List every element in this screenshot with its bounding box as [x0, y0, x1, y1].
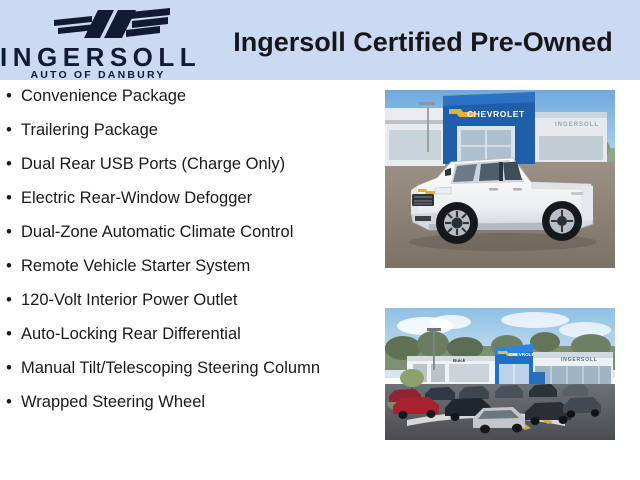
svg-text:CHEVROLET: CHEVROLET — [467, 109, 525, 119]
logo-wordmark: INGERSOLL — [0, 44, 196, 70]
list-item: Dual Rear USB Ports (Charge Only) — [0, 154, 370, 174]
vehicle-photo[interactable]: CHEVROLET INGERSOLL — [385, 90, 615, 268]
feature-label: Trailering Package — [21, 121, 158, 139]
feature-label: Convenience Package — [21, 87, 186, 105]
list-item: Electric Rear-Window Defogger — [0, 188, 370, 208]
feature-label: Remote Vehicle Starter System — [21, 257, 250, 275]
list-item: Convenience Package — [0, 86, 370, 106]
feature-label: 120-Volt Interior Power Outlet — [21, 291, 237, 309]
features-list: Convenience Package Trailering Package D… — [0, 86, 370, 426]
list-item: Remote Vehicle Starter System — [0, 256, 370, 276]
dealership-photo[interactable]: Buick CHEVROLET INGERSOLL — [385, 308, 615, 440]
page-header: INGERSOLL AUTO OF DANBURY Ingersoll Cert… — [0, 0, 640, 80]
list-item: Auto-Locking Rear Differential — [0, 324, 370, 344]
feature-label: Auto-Locking Rear Differential — [21, 325, 241, 343]
list-item: Wrapped Steering Wheel — [0, 392, 370, 412]
dealership-photo-image: Buick CHEVROLET INGERSOLL — [385, 308, 615, 440]
feature-label: Manual Tilt/Telescoping Steering Column — [21, 359, 320, 377]
feature-label: Wrapped Steering Wheel — [21, 393, 205, 411]
ingersoll-winged-emblem-icon — [52, 6, 172, 42]
svg-text:INGERSOLL: INGERSOLL — [561, 357, 598, 363]
list-item: Dual-Zone Automatic Climate Control — [0, 222, 370, 242]
svg-text:INGERSOLL: INGERSOLL — [555, 122, 599, 128]
svg-text:Buick: Buick — [453, 358, 466, 363]
list-item: 120-Volt Interior Power Outlet — [0, 290, 370, 310]
feature-label: Electric Rear-Window Defogger — [21, 189, 252, 207]
list-item: Manual Tilt/Telescoping Steering Column — [0, 358, 370, 378]
list-item: Trailering Package — [0, 120, 370, 140]
feature-label: Dual Rear USB Ports (Charge Only) — [21, 155, 285, 173]
page-title: Ingersoll Certified Pre-Owned — [218, 26, 628, 58]
logo-subline: AUTO OF DANBURY — [0, 70, 196, 80]
feature-label: Dual-Zone Automatic Climate Control — [21, 223, 293, 241]
dealer-logo: INGERSOLL AUTO OF DANBURY — [0, 2, 196, 80]
vehicle-photo-image: CHEVROLET INGERSOLL — [385, 90, 615, 268]
